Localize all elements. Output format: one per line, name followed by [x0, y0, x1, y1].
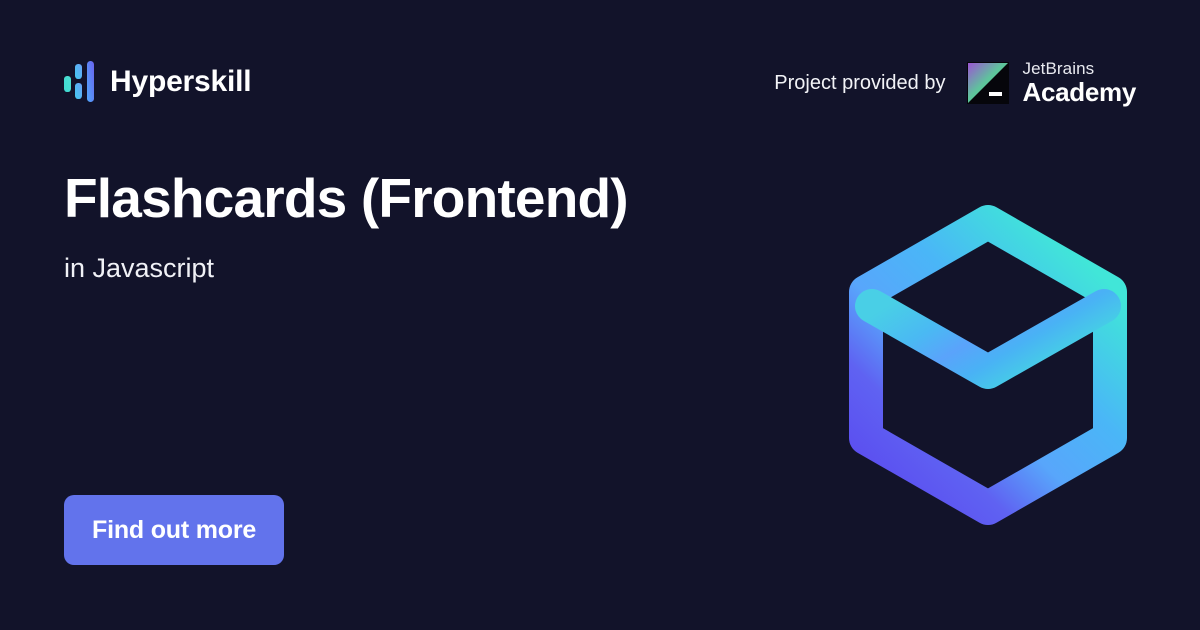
- page-subtitle: in Javascript: [64, 252, 804, 284]
- jetbrains-square-icon: [967, 62, 1009, 104]
- provider-block: Project provided by: [774, 60, 1136, 105]
- jetbrains-academy-logo[interactable]: JetBrains Academy: [967, 60, 1136, 105]
- jetbrains-academy-wordmark: JetBrains Academy: [1022, 60, 1136, 105]
- brand-name: Hyperskill: [110, 67, 251, 97]
- hyperskill-bars-icon: [64, 60, 96, 104]
- academy-word: Academy: [1022, 79, 1136, 105]
- hyperskill-cube-icon: [838, 200, 1138, 530]
- header: Hyperskill Project provided by: [0, 0, 1200, 140]
- page-title: Flashcards (Frontend): [64, 168, 804, 230]
- brand-logo[interactable]: Hyperskill: [64, 60, 251, 104]
- find-out-more-button[interactable]: Find out more: [64, 495, 284, 565]
- project-card: Hyperskill Project provided by: [0, 0, 1200, 630]
- main-content: Flashcards (Frontend) in Javascript: [64, 168, 804, 284]
- jetbrains-word: JetBrains: [1022, 60, 1136, 77]
- provider-label: Project provided by: [774, 73, 945, 93]
